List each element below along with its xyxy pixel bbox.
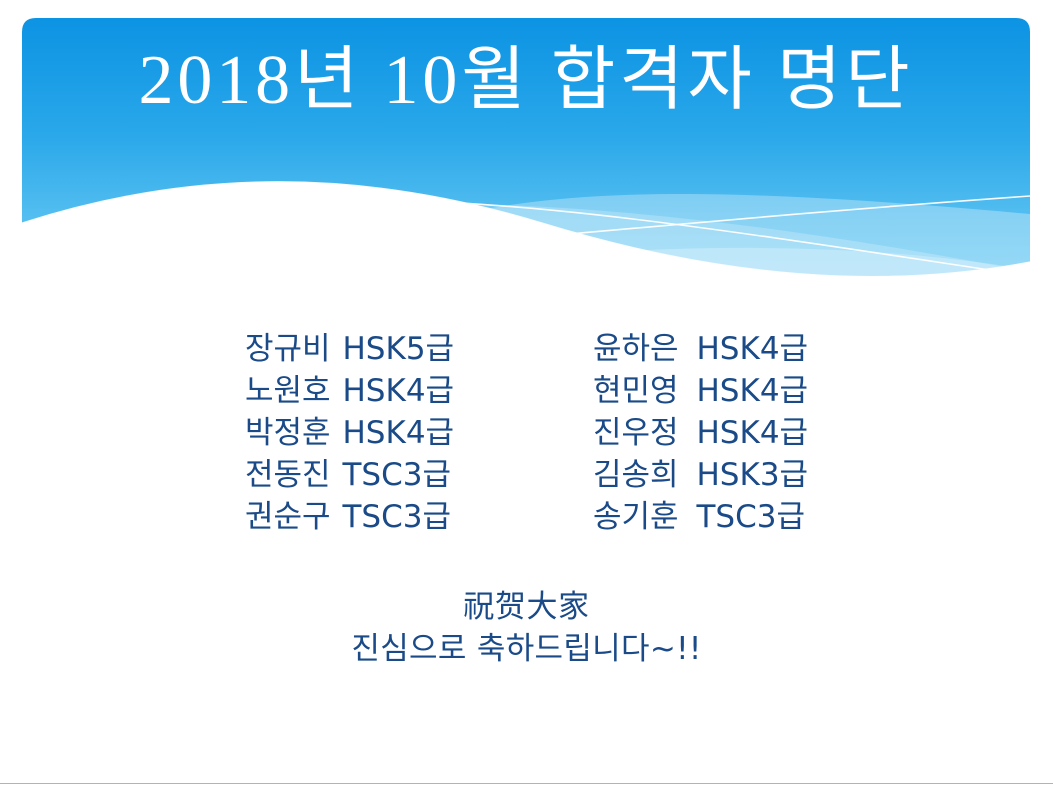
passer-name: 장규비 (245, 328, 331, 370)
presentation-slide: 2018년 10월 합격자 명단 장규비 HSK5급 노원호 HSK4급 박정훈… (0, 0, 1053, 792)
passer-name: 권순구 (245, 496, 331, 538)
list-item: 전동진 TSC3급 (245, 454, 585, 496)
passer-name: 현민영 (593, 370, 679, 412)
congratulation-block: 祝贺大家 진심으로 축하드립니다~!! (0, 586, 1053, 670)
passer-list: 장규비 HSK5급 노원호 HSK4급 박정훈 HSK4급 전동진 TSC3급 … (0, 328, 1053, 538)
passer-grade: TSC3급 (343, 454, 452, 496)
bottom-divider (0, 783, 1053, 784)
list-item: 박정훈 HSK4급 (245, 412, 585, 454)
passer-grade: TSC3급 (697, 496, 806, 538)
passer-grade: TSC3급 (343, 496, 452, 538)
list-item: 김송희 HSK3급 (585, 454, 808, 496)
passer-name: 김송희 (593, 454, 679, 496)
list-item: 장규비 HSK5급 (245, 328, 585, 370)
passer-grade: HSK4급 (343, 412, 455, 454)
list-item: 송기훈 TSC3급 (585, 496, 808, 538)
list-item: 노원호 HSK4급 (245, 370, 585, 412)
passer-grade: HSK4급 (343, 370, 455, 412)
passer-name: 진우정 (593, 412, 679, 454)
list-item: 권순구 TSC3급 (245, 496, 585, 538)
passer-list-left-column: 장규비 HSK5급 노원호 HSK4급 박정훈 HSK4급 전동진 TSC3급 … (245, 328, 585, 538)
passer-name: 박정훈 (245, 412, 331, 454)
list-item: 진우정 HSK4급 (585, 412, 808, 454)
passer-name: 노원호 (245, 370, 331, 412)
page-title: 2018년 10월 합격자 명단 (22, 44, 1030, 118)
passer-grade: HSK4급 (697, 328, 809, 370)
passer-grade: HSK4급 (697, 370, 809, 412)
congratulation-korean: 진심으로 축하드립니다~!! (0, 628, 1053, 670)
congratulation-chinese: 祝贺大家 (0, 586, 1053, 628)
passer-grade: HSK3급 (697, 454, 809, 496)
passer-list-right-column: 윤하은 HSK4급 현민영 HSK4급 진우정 HSK4급 김송희 HSK3급 … (585, 328, 808, 538)
passer-name: 전동진 (245, 454, 331, 496)
list-item: 현민영 HSK4급 (585, 370, 808, 412)
passer-name: 송기훈 (593, 496, 679, 538)
passer-grade: HSK4급 (697, 412, 809, 454)
passer-grade: HSK5급 (343, 328, 455, 370)
list-item: 윤하은 HSK4급 (585, 328, 808, 370)
passer-name: 윤하은 (593, 328, 679, 370)
